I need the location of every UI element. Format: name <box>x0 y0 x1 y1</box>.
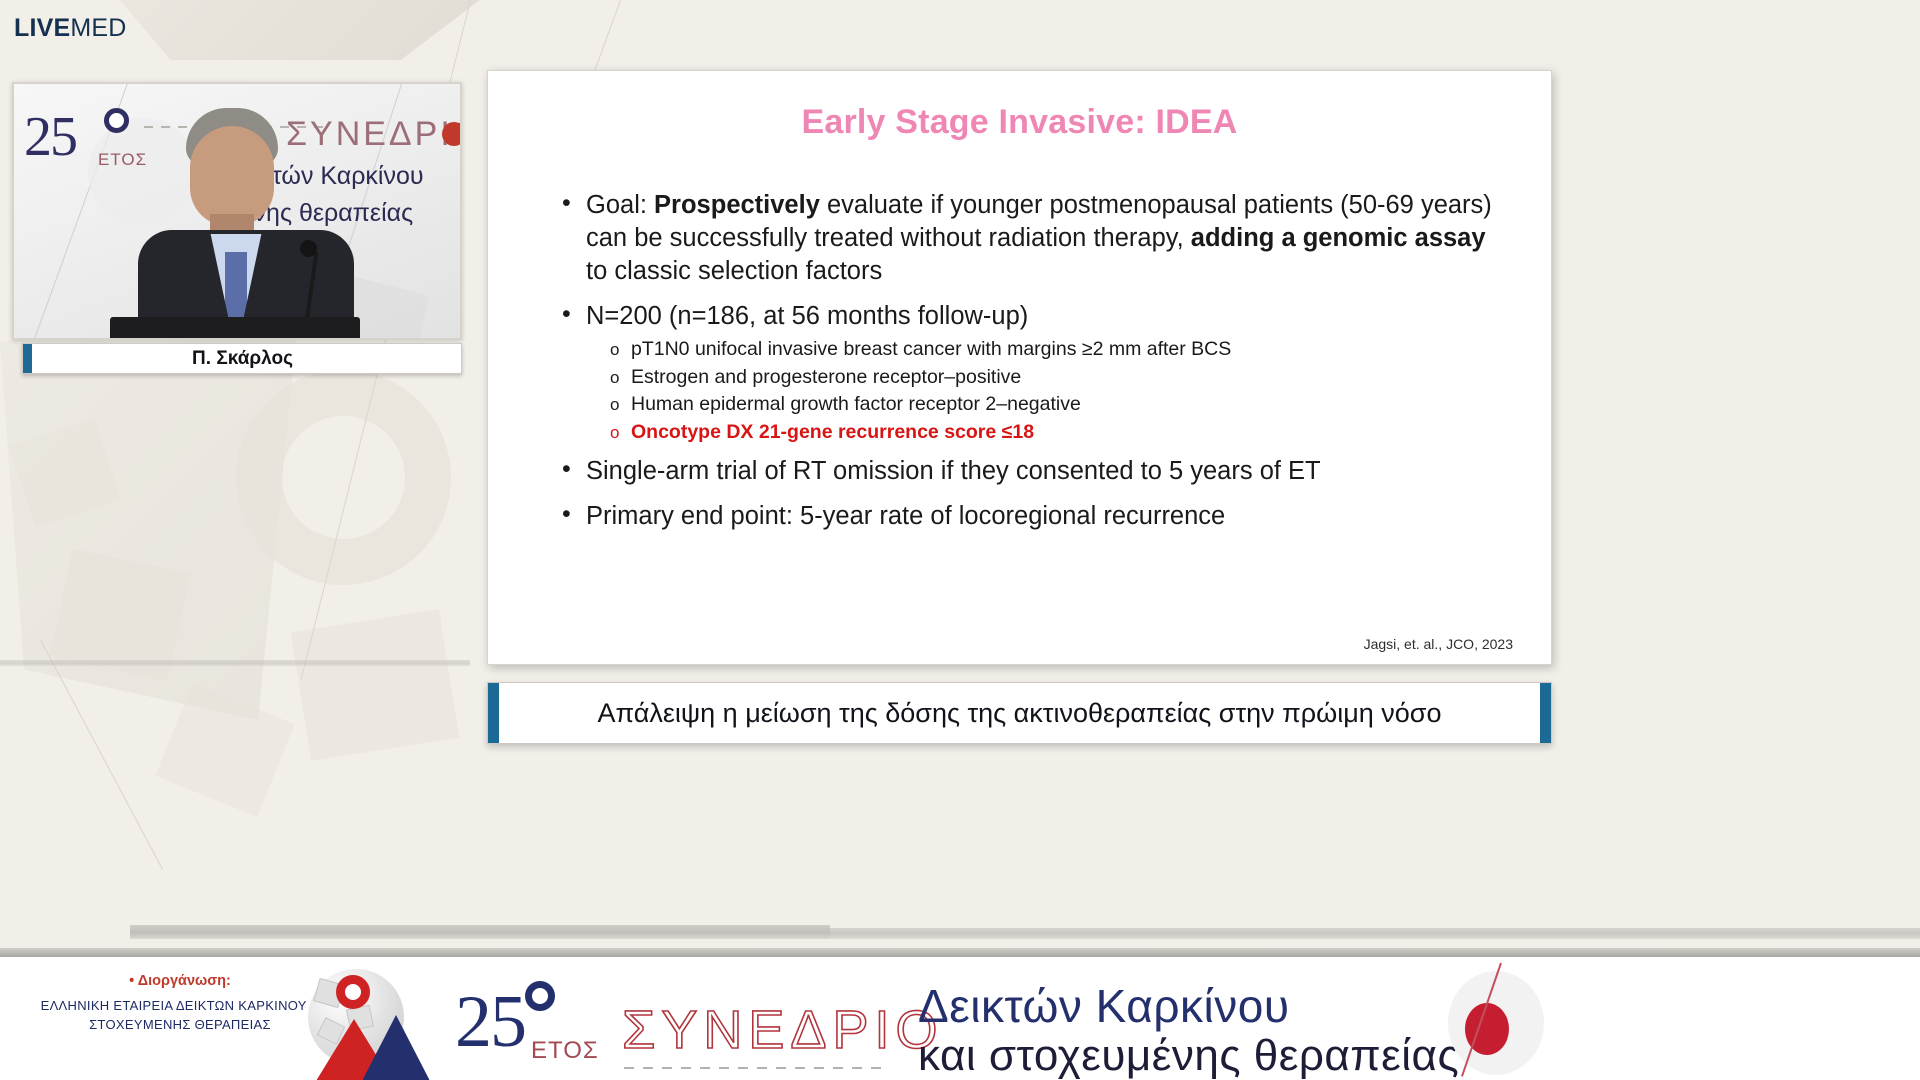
speaker-video[interactable]: 25 ΕΤΟΣ ΣΥΝΕΔΡΙΟ Δεικτών Καρκίνου μένης … <box>12 82 462 340</box>
speaker-figure <box>132 102 362 340</box>
logo-bold-text: LIVE <box>14 14 70 42</box>
speaker-accent-bar <box>23 344 32 373</box>
caption-bar: Απάλειψη η μείωση της δόσης της ακτινοθε… <box>487 682 1552 744</box>
emblem-triangle-blue <box>362 1015 430 1080</box>
slide-citation: Jagsi, et. al., JCO, 2023 <box>1364 636 1513 652</box>
organizer-name: ΕΛΛΗΝΙΚΗ ΕΤΑΙΡΕΙΑ ΔΕΙΚΤΩΝ ΚΑΡΚΙΝΟΥ & ΣΤΟ… <box>35 996 325 1034</box>
bullet-single-arm: Single-arm trial of RT omission if they … <box>560 455 1499 488</box>
microphone-icon <box>300 240 317 257</box>
slide-body: Goal: Prospectively evaluate if younger … <box>560 189 1499 536</box>
spacer <box>560 291 1499 300</box>
bullet-sample-size: N=200 (n=186, at 56 months follow-up) <box>560 300 1499 333</box>
slide-title: Early Stage Invasive: IDEA <box>488 103 1551 142</box>
organizer-label: • Διοργάνωση: <box>35 973 325 989</box>
footer-title-line2: και στοχευμένης θεραπείας <box>918 1031 1459 1080</box>
backdrop-year-number: 25 <box>24 109 76 165</box>
footer-year-number: 25 <box>455 985 525 1059</box>
bg-cube <box>155 683 294 817</box>
footer-dashed-rule <box>624 1067 890 1069</box>
sub-bullet-pt1n0: pT1N0 unifocal invasive breast cancer wi… <box>610 336 1499 364</box>
speaker-name-bar: Π. Σκάρλος <box>22 343 462 374</box>
spacer <box>560 491 1499 500</box>
bullet-goal-part-3: adding a genomic assay <box>1191 224 1486 252</box>
presentation-viewer: LIVEMED 25 ΕΤΟΣ ΣΥΝΕΔΡΙΟ Δεικτών Καρκίνο… <box>0 0 1920 1080</box>
bg-band <box>0 660 470 666</box>
footer-title-line1: Δεικτών Καρκίνου <box>918 979 1290 1033</box>
speaker-name-text: Π. Σκάρλος <box>32 348 461 370</box>
degree-circle-icon <box>104 108 129 133</box>
video-backdrop: 25 ΕΤΟΣ ΣΥΝΕΔΡΙΟ Δεικτών Καρκίνου μένης … <box>14 84 460 338</box>
slide-panel[interactable]: Early Stage Invasive: IDEA Goal: Prospec… <box>487 70 1552 665</box>
footer-synedrio-label: ΣΥΝΕΔΡΙΟ <box>622 999 944 1061</box>
organizer-label-text: Διοργάνωση: <box>138 973 231 989</box>
sub-bullet-oncotype: Oncotype DX 21-gene recurrence score ≤18 <box>610 419 1499 447</box>
bullet-goal: Goal: Prospectively evaluate if younger … <box>560 189 1499 288</box>
sub-bullet-er-pr: Estrogen and progesterone receptor–posit… <box>610 364 1499 392</box>
emblem-ring-icon <box>336 975 370 1009</box>
bg-shape <box>120 0 480 60</box>
bullet-dot-icon: • <box>129 973 134 989</box>
caption-text: Απάλειψη η μείωση της δόσης της ακτινοθε… <box>499 698 1540 729</box>
bullet-goal-part-1: Prospectively <box>654 191 820 219</box>
footer-etos-label: ΕΤΟΣ <box>531 1037 599 1065</box>
bg-band <box>830 928 1920 939</box>
bg-band <box>130 925 830 939</box>
spacer <box>560 446 1499 455</box>
bullet-goal-part-4: to classic selection factors <box>586 257 882 285</box>
footer-divider <box>0 948 1920 957</box>
sub-bullet-her2: Human epidermal growth factor receptor 2… <box>610 391 1499 419</box>
organizer-block: • Διοργάνωση: ΕΛΛΗΝΙΚΗ ΕΤΑΙΡΕΙΑ ΔΕΙΚΤΩΝ … <box>35 973 325 1034</box>
bg-cube <box>291 609 459 761</box>
logo-light-text: MED <box>70 14 126 42</box>
livemed-logo: LIVEMED <box>14 14 127 43</box>
bg-ring <box>236 370 451 585</box>
bullet-goal-part-0: Goal: <box>586 191 654 219</box>
red-dot-icon <box>442 122 462 146</box>
caption-accent-right <box>1540 683 1551 743</box>
degree-circle-icon <box>525 981 555 1011</box>
speaker-face <box>190 126 274 226</box>
caption-accent-left <box>488 683 499 743</box>
bullet-primary-endpoint: Primary end point: 5-year rate of locore… <box>560 500 1499 533</box>
conference-footer: • Διοργάνωση: ΕΛΛΗΝΙΚΗ ΕΤΑΙΡΕΙΑ ΔΕΙΚΤΩΝ … <box>0 954 1920 1080</box>
podium <box>110 317 360 340</box>
conference-emblem <box>300 963 440 1079</box>
